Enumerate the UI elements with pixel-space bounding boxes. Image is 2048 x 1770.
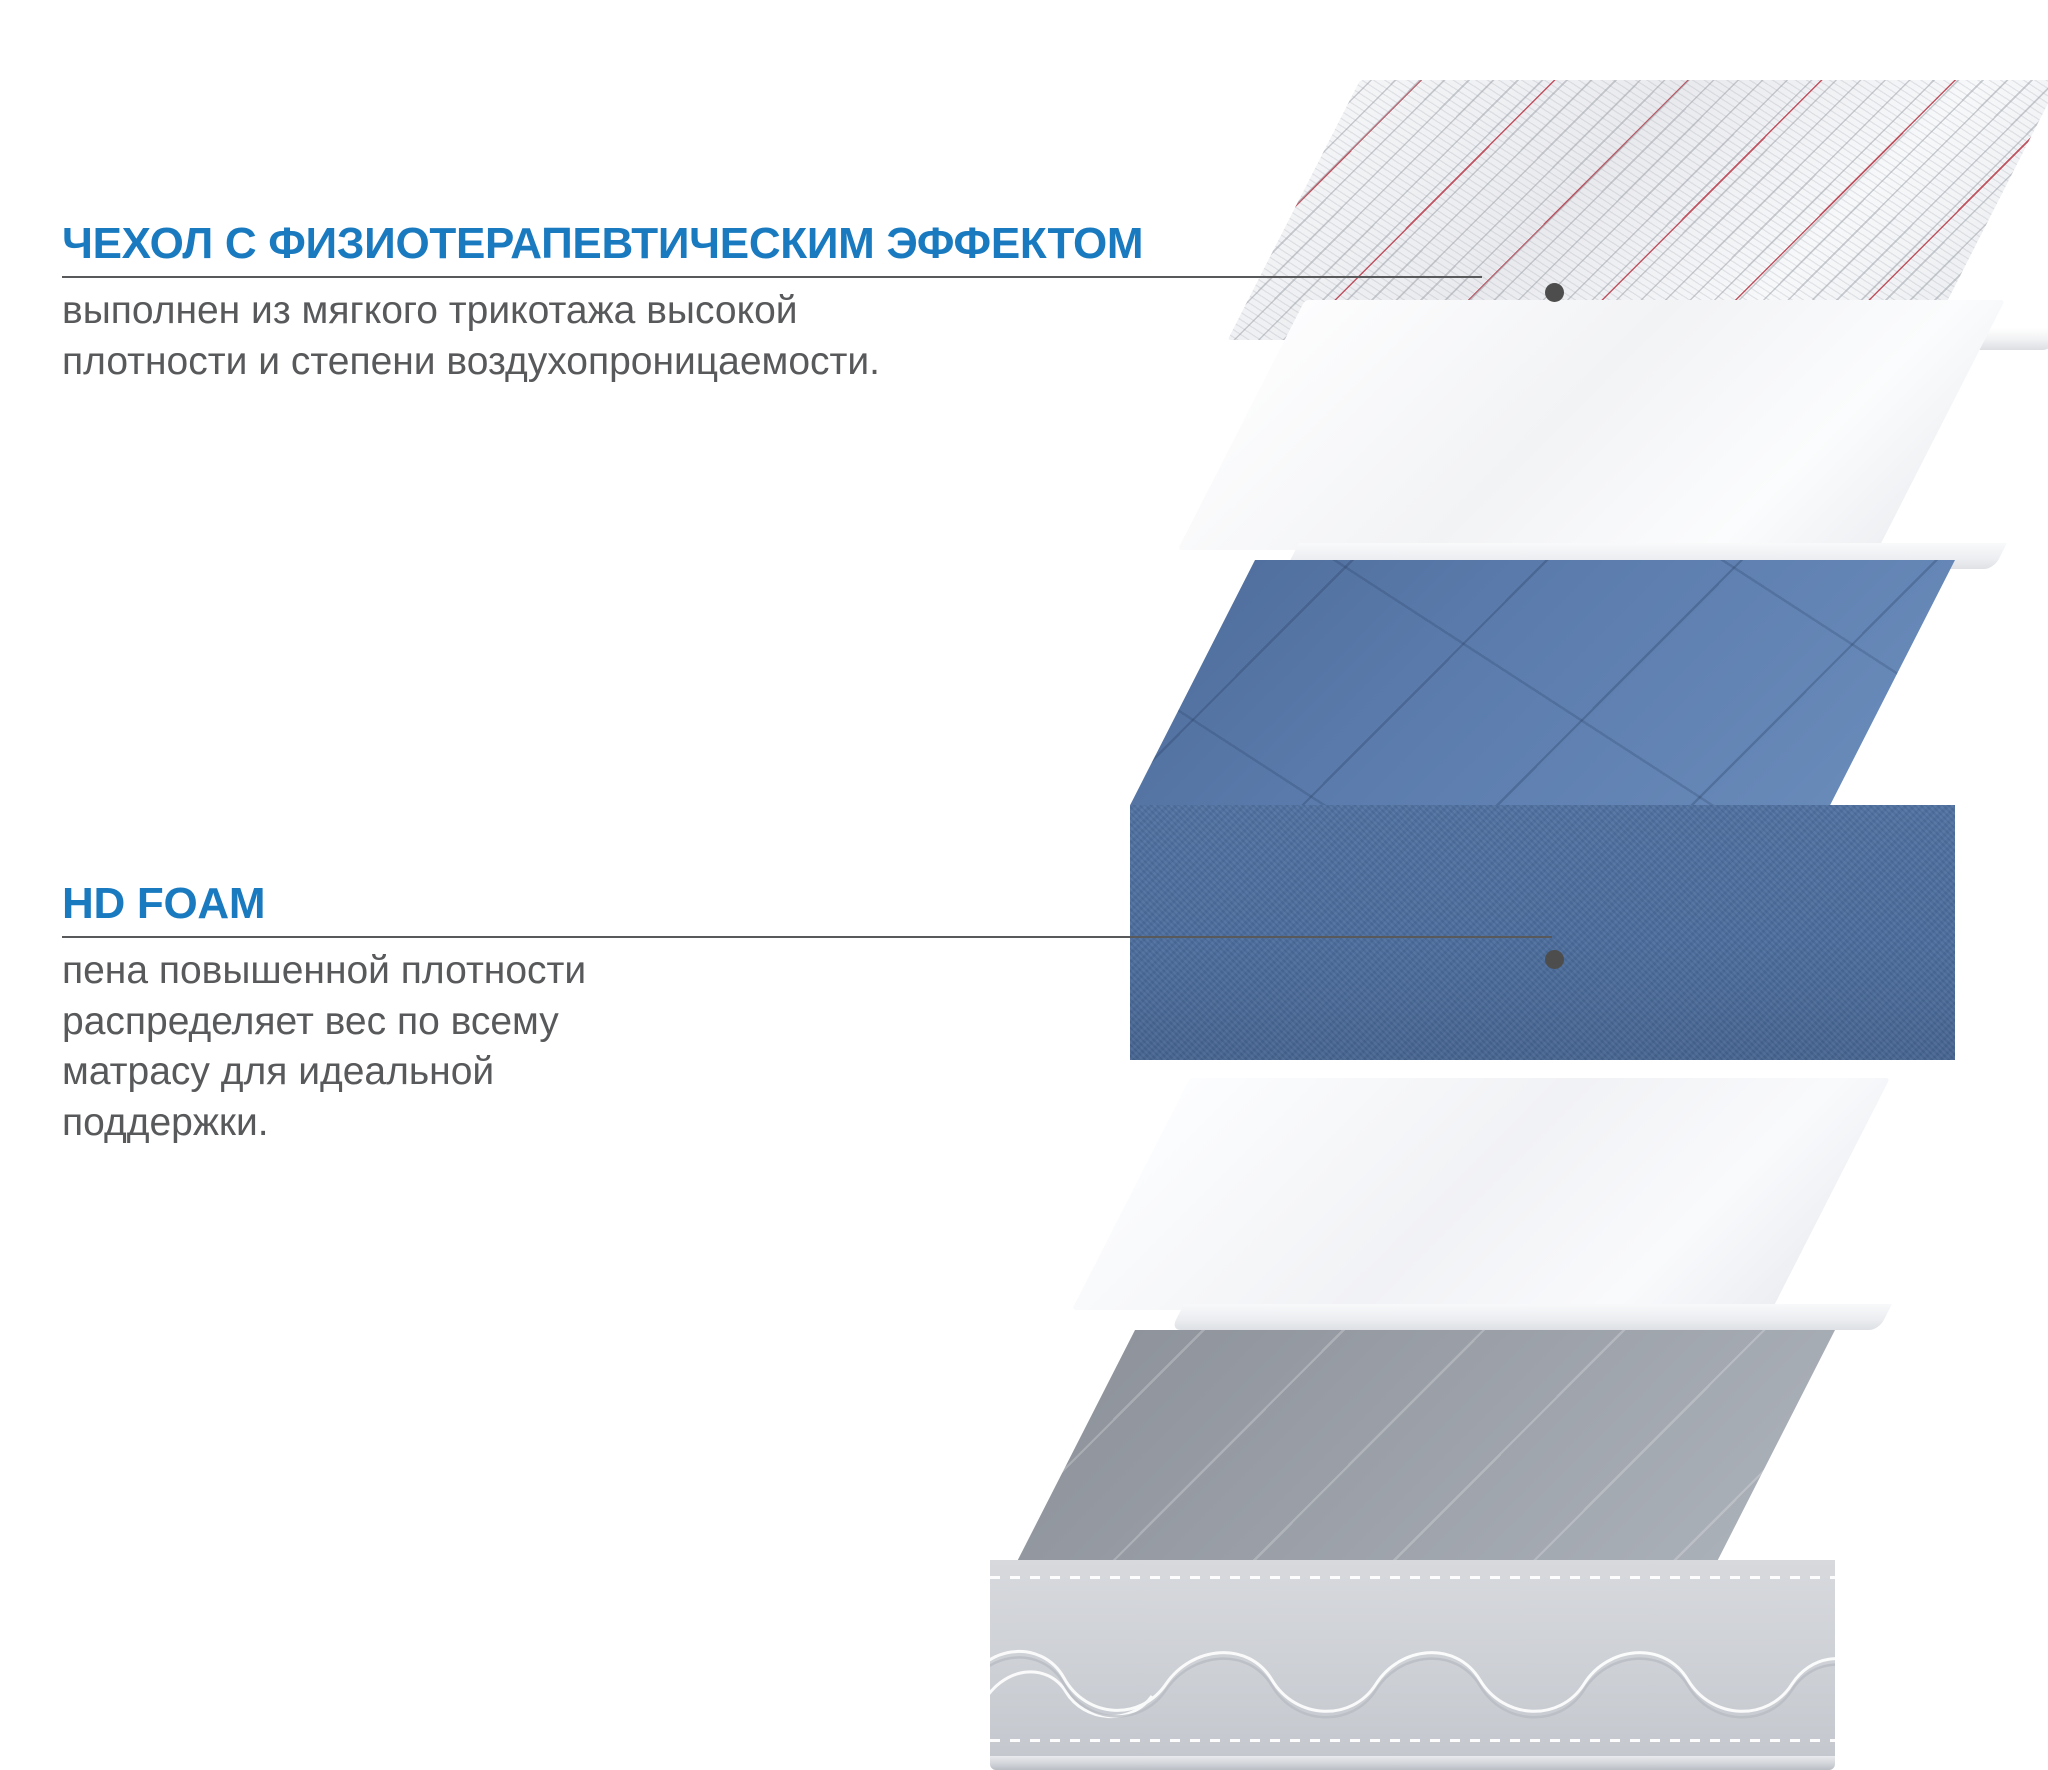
white-foam-bottom-front-edge [1171,1304,1892,1330]
hd-foam-top-face [1130,560,1955,805]
callout-hd-foam-body-line-1: пена повышенной плотности [62,946,1552,997]
callout-fabric-cover-body-line-1: выполнен из мягкого трикотажа высокой [62,286,1482,337]
spring-base-front-face [990,1560,1835,1760]
spring-base-quilting-pattern [990,1580,1835,1742]
callout-hd-foam-rule [62,936,1552,938]
callout-fabric-cover-title: ЧЕХОЛ С ФИЗИОТЕРАПЕВТИЧЕСКИМ ЭФФЕКТОМ [62,222,1482,266]
spring-base-top-face [1018,1330,1835,1560]
callout-hd-foam-leader-dot [1545,950,1564,969]
spring-base-stitch-bottom [990,1739,1835,1742]
callout-hd-foam: HD FOAM пена повышенной плотности распре… [62,882,1552,1149]
callout-hd-foam-body-line-4: поддержки. [62,1098,1552,1149]
callout-hd-foam-body-line-2: распределяет вес по всему [62,997,1552,1048]
callout-fabric-cover: ЧЕХОЛ С ФИЗИОТЕРАПЕВТИЧЕСКИМ ЭФФЕКТОМ вы… [62,222,1482,387]
callout-hd-foam-body: пена повышенной плотности распределяет в… [62,946,1552,1149]
spring-base-stitch-top [990,1576,1835,1579]
callout-fabric-cover-body: выполнен из мягкого трикотажа высокой пл… [62,286,1482,387]
callout-hd-foam-body-line-3: матрасу для идеальной [62,1047,1552,1098]
callout-fabric-cover-leader-dot [1545,283,1564,302]
callout-fabric-cover-rule [62,276,1482,278]
white-foam-front-edge [1286,543,2007,569]
callout-hd-foam-title: HD FOAM [62,882,1552,926]
callout-fabric-cover-body-line-2: плотности и степени воздухопроницаемости… [62,337,1482,388]
spring-base-piping [990,1756,1835,1770]
